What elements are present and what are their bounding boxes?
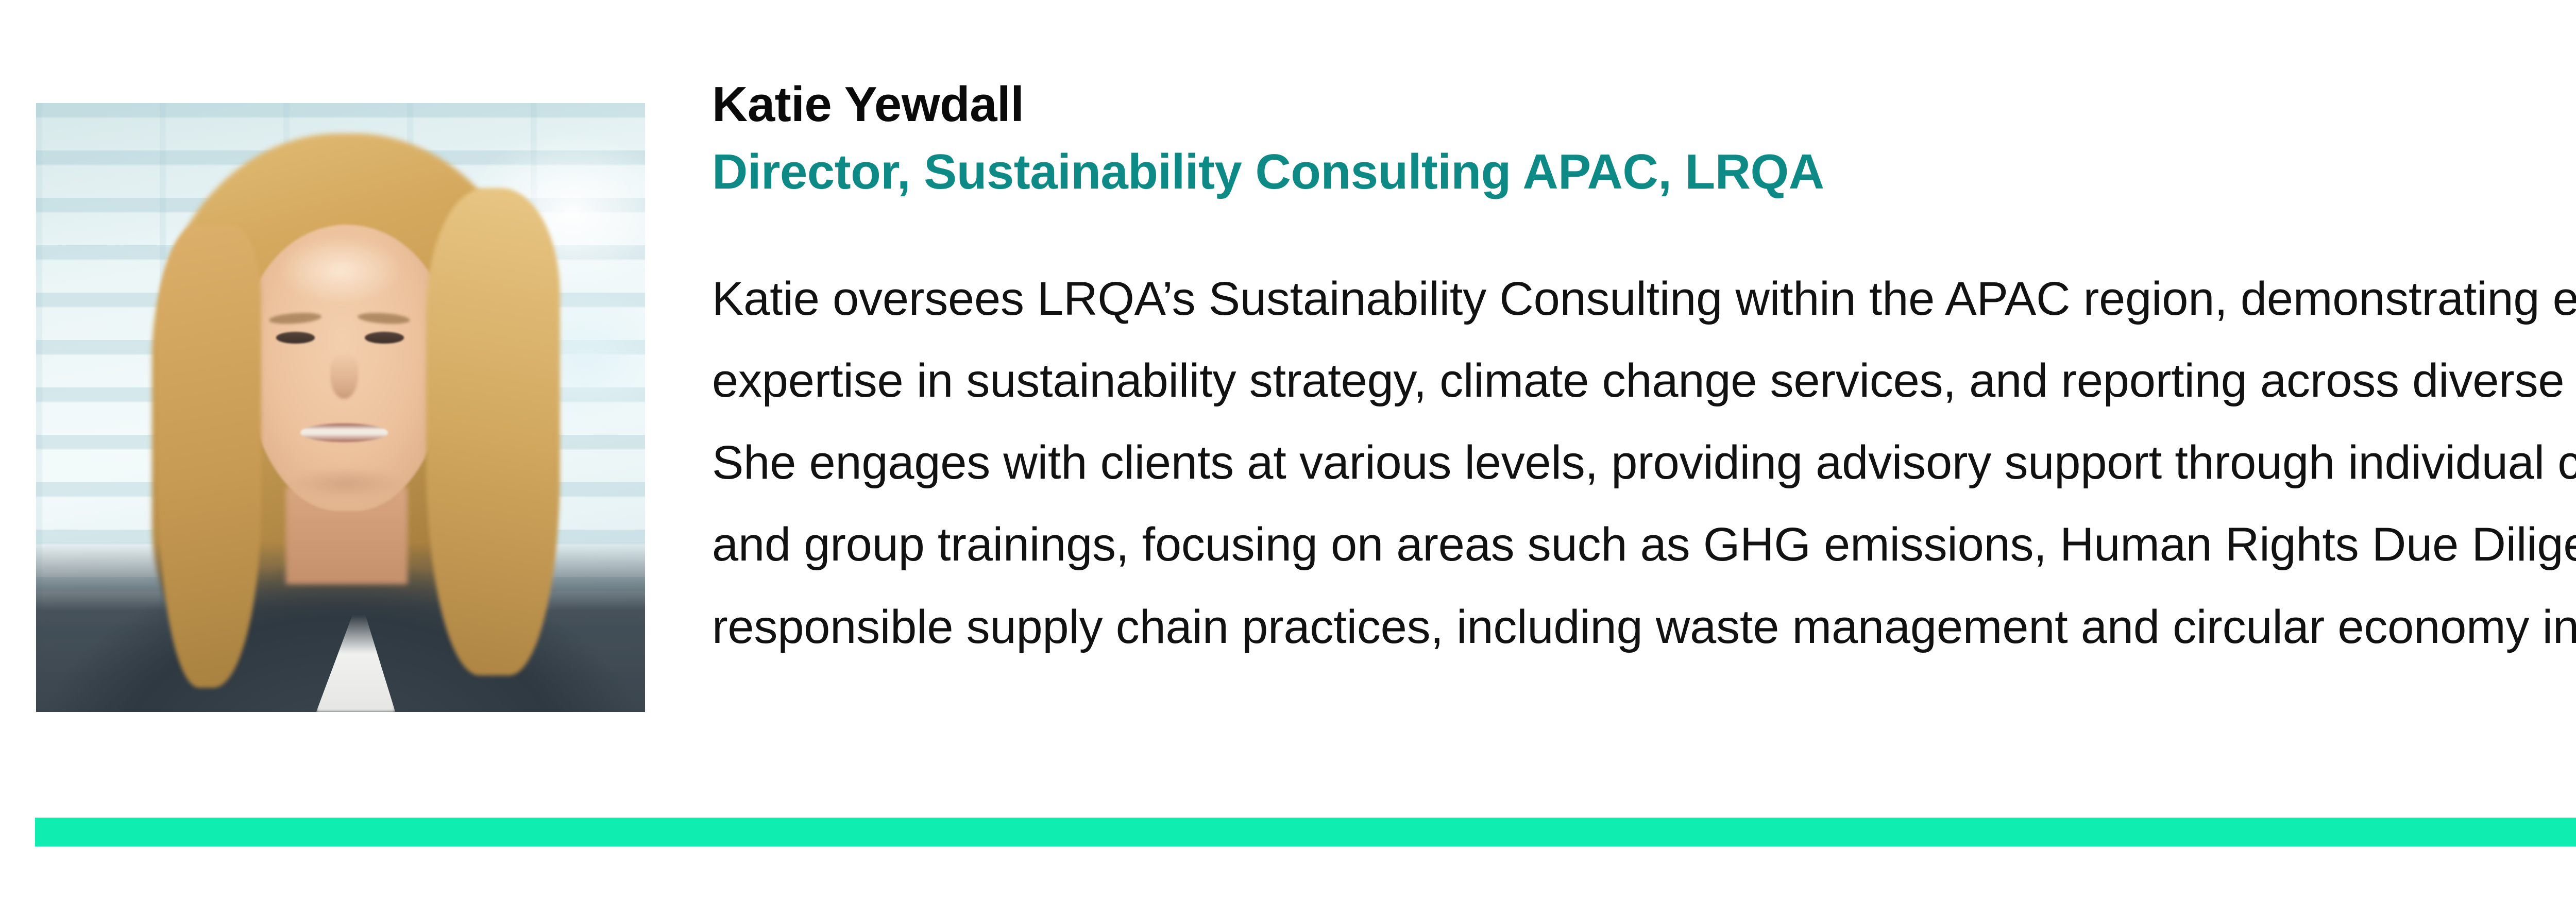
chin-shadow — [292, 468, 401, 499]
hair-strand-right — [426, 188, 560, 675]
bio-line: expertise in sustainability strategy, cl… — [712, 340, 2576, 422]
bio-line: Katie oversees LRQA’s Sustainability Con… — [712, 258, 2576, 340]
accent-bar — [35, 818, 2576, 846]
speaker-photo — [36, 103, 645, 712]
bio-line: She engages with clients at various leve… — [712, 422, 2576, 504]
speaker-name: Katie Yewdall — [712, 76, 2576, 132]
photo-background — [36, 103, 645, 712]
hair-strand-left — [158, 225, 261, 687]
eye-left — [276, 332, 315, 343]
bio-line: responsible supply chain practices, incl… — [712, 586, 2576, 668]
speaker-bio: Katie oversees LRQA’s Sustainability Con… — [712, 258, 2576, 668]
bio-line: and group trainings, focusing on areas s… — [712, 504, 2576, 586]
speaker-bio-card: Katie Yewdall Director, Sustainability C… — [0, 0, 2576, 899]
speaker-role: Director, Sustainability Consulting APAC… — [712, 144, 2576, 200]
mouth-shape — [300, 423, 388, 443]
forehead-highlight — [280, 237, 401, 304]
eye-right — [365, 332, 404, 343]
speaker-text-column: Katie Yewdall Director, Sustainability C… — [712, 76, 2576, 668]
